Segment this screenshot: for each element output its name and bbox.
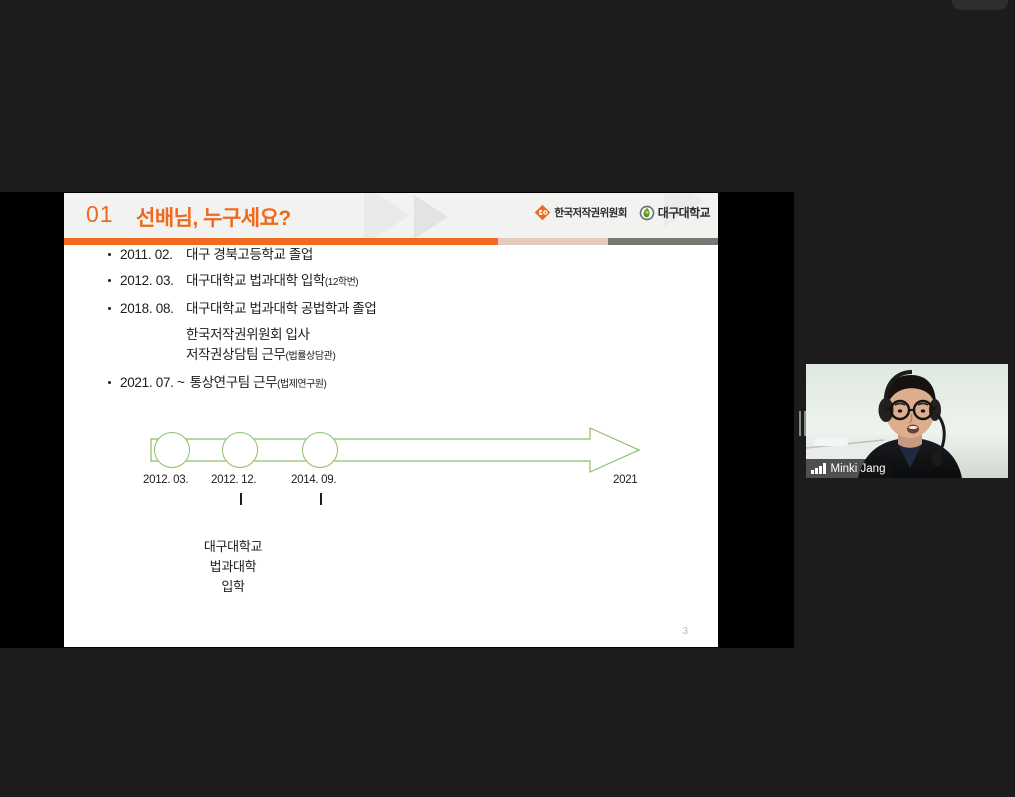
timeline-label: 2012. 03. [143,474,188,486]
timeline-end-label: 2021 [613,474,637,486]
meeting-stage: 01 선배님, 누구세요? 한국저작권위원회 [0,0,1015,797]
logo-kcc: 한국저작권위원회 [534,204,626,221]
bullet-text: 대구대학교 법과대학 입학(12학번) [186,271,358,293]
bullet-item: 2011. 02. 대구 경북고등학교 졸업 [64,245,718,265]
bullet-sub-line: 한국저작권위원회 입사 [64,325,718,345]
bullet-text: 대구대학교 법과대학 공법학과 졸업 [186,299,376,319]
header-rule-tertiary [608,238,718,245]
video-tile-drag-handle[interactable] [799,411,806,436]
bullet-text: 통상연구팀 근무(법제연구원) [190,373,327,395]
timeline-graphic: 2012. 03. 2012. 12. 2014. 09. 2021 대구대학교… [64,427,718,577]
bullet-date: 2012. 03. [120,271,186,291]
slide-header: 01 선배님, 누구세요? 한국저작권위원회 [64,193,718,239]
slide-page-number: 3 [682,626,688,637]
bullet-dot-icon [108,279,111,282]
timeline-label: 2014. 09. [291,474,336,486]
participant-video-tile[interactable]: Minki Jang [806,364,1008,478]
participant-name: Minki Jang [831,463,886,475]
header-rule-primary [64,238,498,245]
logo-kcc-label: 한국저작권위원회 [554,205,626,220]
bullet-date: 2021. 07. ~ [120,373,185,393]
timeline-caption-line: 법과대학 [168,557,298,577]
timeline-tick [240,493,242,505]
slide-title-number: 01 [86,201,114,228]
bullet-item: 2021. 07. ~ 통상연구팀 근무(법제연구원) [64,373,718,395]
watermark-triangle-icon [414,195,448,239]
timeline-node [222,432,258,468]
daegu-university-logo-icon [639,205,655,221]
watermark-triangle-icon [364,193,410,239]
bullet-sub-line: 저작권상담팀 근무(법률상담관) [64,345,718,367]
timeline-node [302,432,338,468]
bullet-note: (법률상담관) [286,351,336,362]
bullet-item: 2018. 08. 대구대학교 법과대학 공법학과 졸업 [64,299,718,319]
timeline-caption: 대구대학교 법과대학 입학 [168,537,298,597]
bullet-dot-icon [108,307,111,310]
signal-bars-icon [811,463,826,474]
participant-name-bar: Minki Jang [806,459,893,478]
bullet-dot-icon [108,381,111,384]
timeline-node [154,432,190,468]
bullet-note: (12학번) [325,277,358,288]
bullet-note: (법제연구원) [277,379,326,390]
logo-daegu-university-label: 대구대학교 [658,204,710,221]
bullet-text: 대구 경북고등학교 졸업 [186,245,313,265]
bullet-date: 2018. 08. [120,299,186,319]
logo-group: 한국저작권위원회 대구대학교 [534,204,710,221]
timeline-tick [320,493,322,505]
timeline-caption-line: 입학 [168,577,298,597]
shared-slide[interactable]: 01 선배님, 누구세요? 한국저작권위원회 [64,193,718,647]
bullet-dot-icon [108,253,111,256]
timeline-label: 2012. 12. [211,474,256,486]
header-rule-secondary [498,238,608,245]
bullet-date: 2011. 02. [120,245,186,265]
timeline-caption-line: 대구대학교 [168,537,298,557]
slide-body: 2011. 02. 대구 경북고등학교 졸업 2012. 03. 대구대학교 법… [64,245,718,401]
meeting-controls-pill[interactable] [952,0,1008,10]
kcc-logo-icon [534,204,551,221]
logo-daegu-university: 대구대학교 [639,204,710,221]
bullet-item: 2012. 03. 대구대학교 법과대학 입학(12학번) [64,271,718,293]
slide-title: 선배님, 누구세요? [136,202,291,232]
